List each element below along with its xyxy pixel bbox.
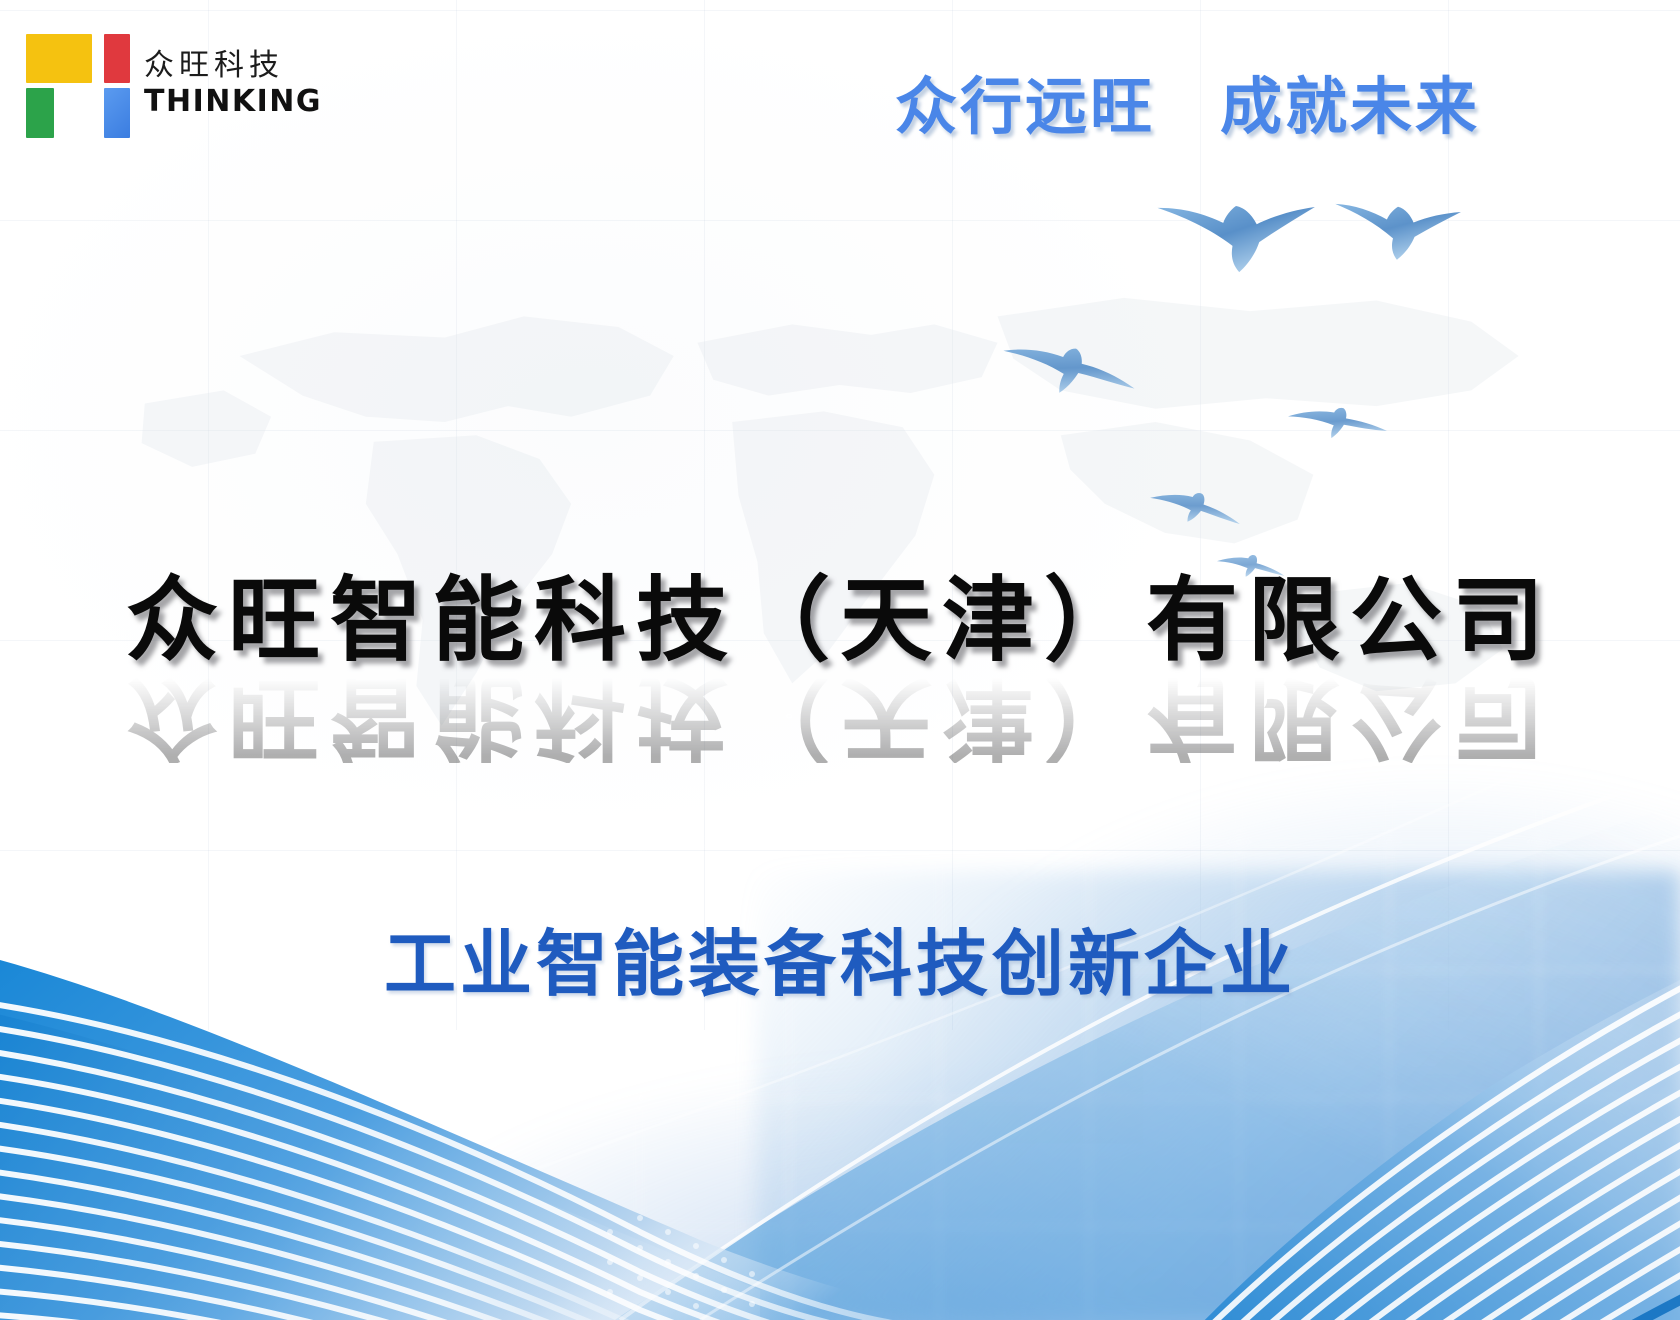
- company-logo[interactable]: 众旺科技 THINKING: [26, 28, 322, 144]
- logo-company-cn: 众旺科技: [144, 51, 322, 81]
- logo-wordmark: 众旺科技 THINKING: [144, 51, 322, 121]
- page-subtitle: 工业智能装备科技创新企业: [0, 905, 1680, 1010]
- logo-block-red: [104, 34, 130, 83]
- page-title-reflection: 众旺智能科技（天津）有限公司: [0, 671, 1680, 763]
- four-color-block-logo-icon: [26, 28, 130, 144]
- presentation-slide: 众旺科技 THINKING 众行远旺 成就未来 众旺智能科技（天津）有限公司 众…: [0, 0, 1680, 1320]
- logo-block-green: [26, 88, 54, 138]
- logo-company-en: THINKING: [144, 87, 322, 117]
- logo-block-blue: [104, 88, 130, 138]
- logo-block-yellow: [26, 34, 92, 83]
- background-window-panes: [638, 713, 1680, 1320]
- title-area: 众旺智能科技（天津）有限公司 众旺智能科技（天津）有限公司: [0, 575, 1680, 763]
- page-title: 众旺智能科技（天津）有限公司: [0, 575, 1680, 667]
- header-tagline: 众行远旺 成就未来: [895, 56, 1480, 146]
